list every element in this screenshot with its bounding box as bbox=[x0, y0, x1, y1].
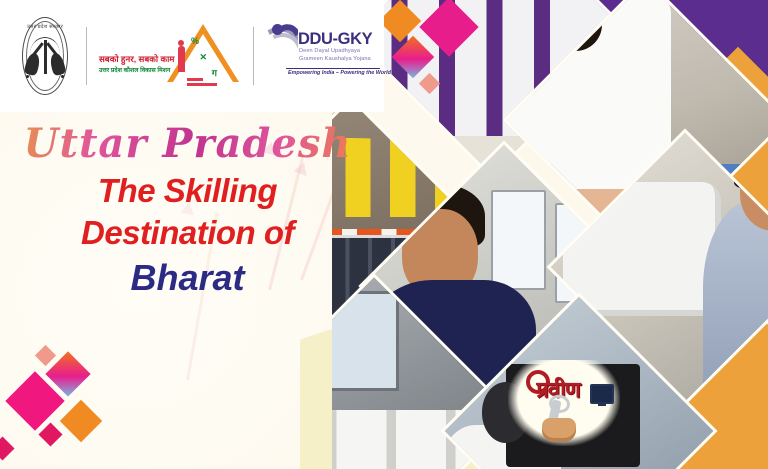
ddu-gky-logo: DDU-GKY Deen Dayal Upadhyaya Grameen Kau… bbox=[264, 20, 382, 92]
headline-block: Uttar Pradesh The Skilling Destination o… bbox=[0, 118, 375, 302]
skilling-poster: उत्तर प्रदेश सरकार % ✕ ग सबको हुनर, सबको… bbox=[0, 0, 768, 469]
hand-icon bbox=[542, 418, 576, 442]
up-skill-development-mission-logo: % ✕ ग सबको हुनर, सबको काम उत्तर प्रदेश क… bbox=[97, 18, 243, 94]
prawin-logo: प्रवीण bbox=[508, 360, 620, 446]
ddu-gky-expansion-line1: Deen Dayal Upadhyaya bbox=[299, 48, 360, 54]
monitor-icon bbox=[590, 384, 614, 404]
upsdm-tagline: सबको हुनर, सबको काम bbox=[99, 53, 174, 65]
headline-line-uttar-pradesh: Uttar Pradesh bbox=[0, 118, 375, 170]
headline-line-bharat: Bharat bbox=[0, 254, 375, 302]
hindi-letter-icon: ग bbox=[212, 66, 217, 79]
emblem-arc-text: उत्तर प्रदेश सरकार bbox=[14, 24, 76, 30]
uttar-pradesh-government-emblem: उत्तर प्रदेश सरकार bbox=[14, 13, 76, 99]
ddu-figure-head-icon bbox=[272, 24, 283, 35]
ddu-gky-expansion-line2: Grameen Kaushalya Yojana bbox=[299, 56, 371, 62]
ddu-gky-title: DDU-GKY bbox=[298, 30, 372, 49]
percent-icon: % bbox=[191, 36, 199, 46]
logo-band: उत्तर प्रदेश सरकार % ✕ ग सबको हुनर, सबको… bbox=[0, 0, 384, 112]
headline-line-destination-of: Destination of bbox=[0, 212, 375, 254]
headline-line-the-skilling: The Skilling bbox=[0, 170, 375, 212]
ddu-gky-tagline: Empowering India – Powering the World bbox=[288, 70, 391, 76]
upsdm-subtitle: उत्तर प्रदेश कौशल विकास मिशन bbox=[99, 65, 170, 74]
logo-divider-2 bbox=[253, 27, 254, 85]
logo-divider-1 bbox=[86, 27, 87, 85]
multiply-icon: ✕ bbox=[199, 52, 207, 63]
